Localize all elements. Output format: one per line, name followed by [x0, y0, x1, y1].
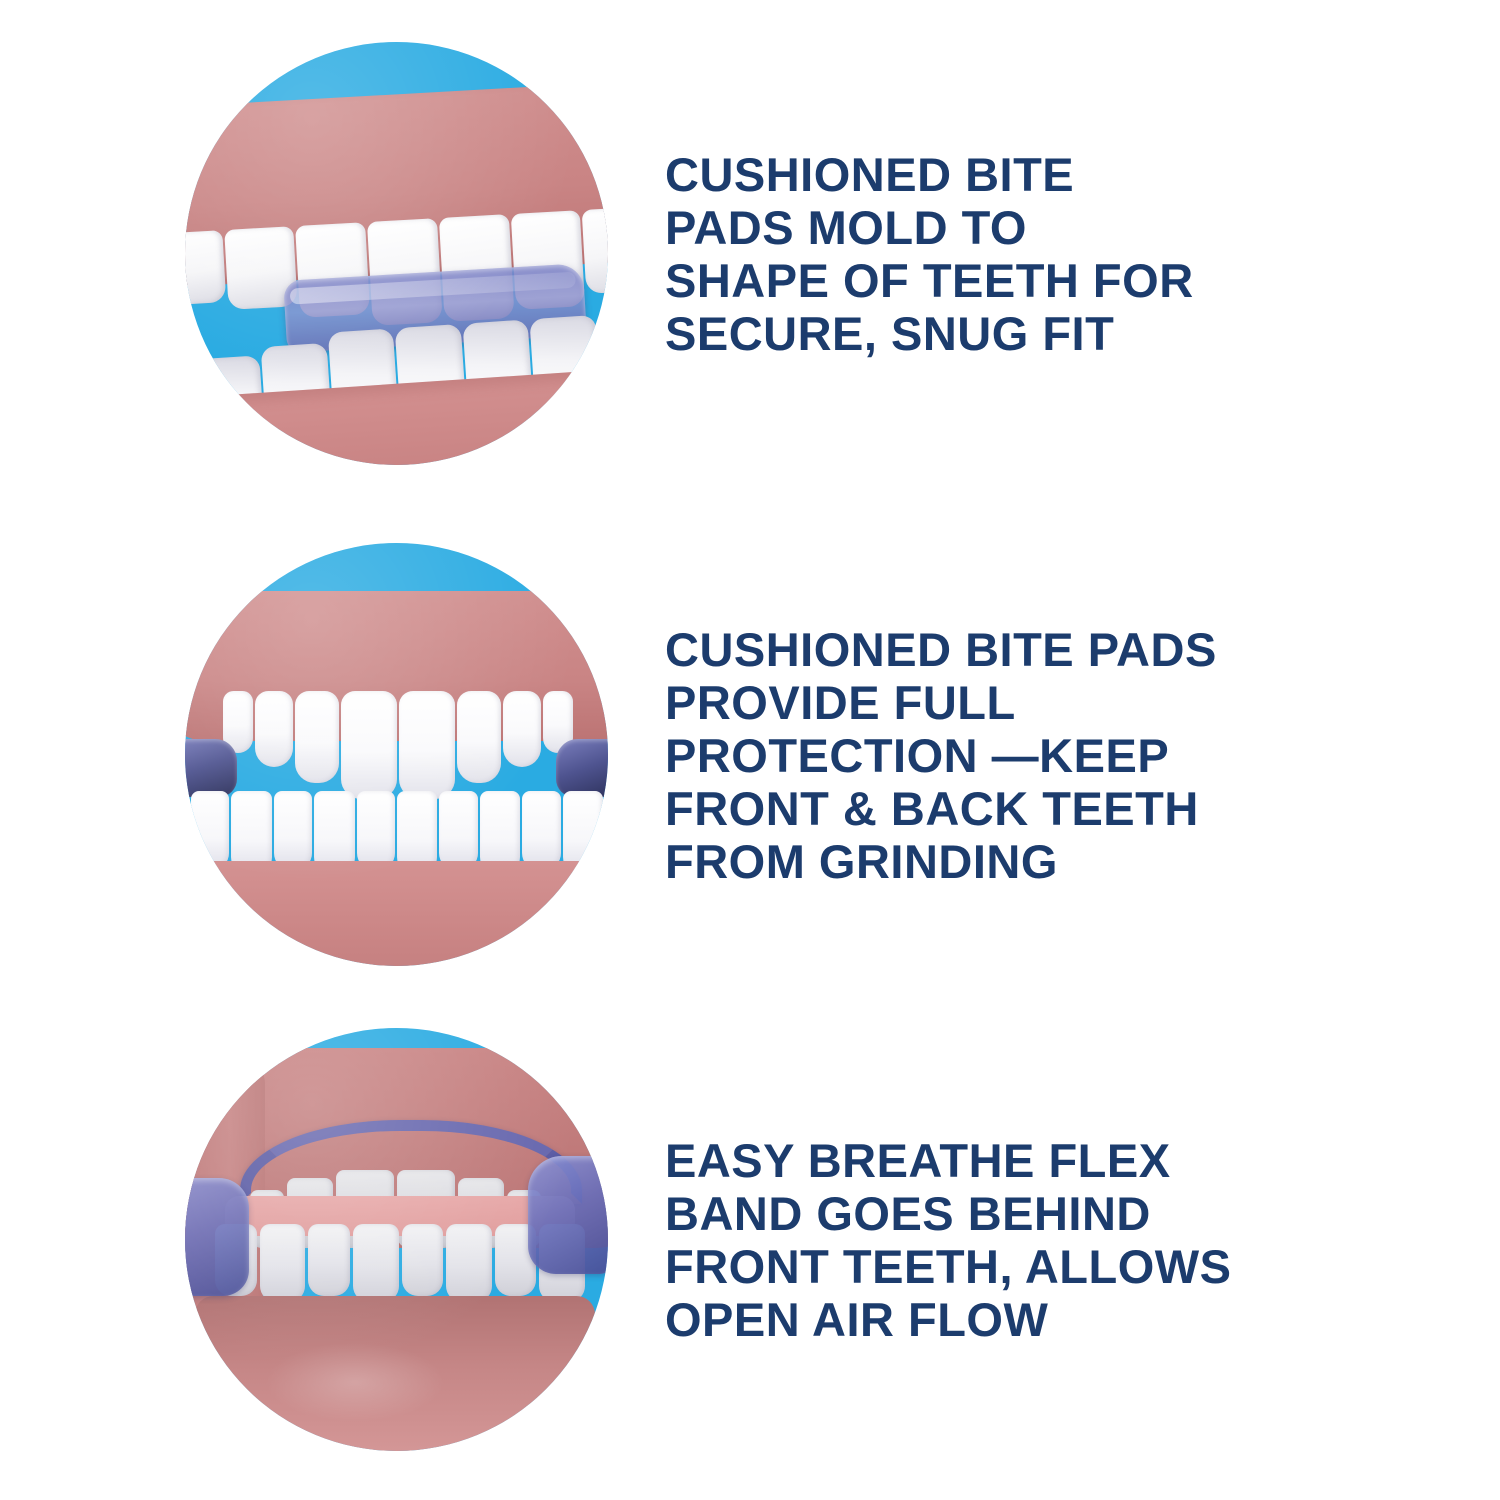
feature-text-cell: EASY BREATHE FLEX BAND GOES BEHIND FRONT… [610, 1134, 1500, 1346]
tongue [195, 1296, 595, 1451]
feature-row: CUSHIONED BITE PADS PROVIDE FULL PROTECT… [0, 543, 1500, 967]
inside-mouth-flex-band-view-icon [185, 1028, 608, 1451]
tooth [357, 791, 395, 871]
tooth [255, 691, 293, 767]
product-feature-infographic: CUSHIONED BITE PADS MOLD TO SHAPE OF TEE… [0, 0, 1500, 1500]
feature-image-cell [0, 543, 610, 967]
feature-caption: EASY BREATHE FLEX BAND GOES BEHIND FRONT… [665, 1134, 1500, 1346]
bite-pad-left [185, 1178, 249, 1296]
lower-gum [185, 861, 608, 966]
tooth [457, 691, 501, 783]
feature-image-cell [0, 42, 610, 466]
tooth [402, 1224, 444, 1296]
feature-text-cell: CUSHIONED BITE PADS PROVIDE FULL PROTECT… [610, 623, 1500, 888]
tooth [341, 691, 397, 799]
bite-pad-left [185, 739, 237, 797]
tooth [399, 691, 455, 799]
feature-caption: CUSHIONED BITE PADS PROVIDE FULL PROTECT… [665, 623, 1500, 888]
tooth [260, 1224, 306, 1302]
tooth [308, 1224, 350, 1296]
tooth [274, 791, 312, 871]
tooth [185, 230, 226, 306]
bite-pad-right [556, 739, 608, 797]
feature-caption: CUSHIONED BITE PADS MOLD TO SHAPE OF TEE… [665, 148, 1500, 360]
side-bite-view-with-mouthguard-icon [185, 42, 608, 465]
front-closed-bite-view-icon [185, 543, 608, 966]
bite-pad-right [528, 1156, 608, 1274]
tooth [191, 791, 229, 871]
feature-image-cell [0, 1028, 610, 1452]
tooth [503, 691, 541, 767]
feature-row: EASY BREATHE FLEX BAND GOES BEHIND FRONT… [0, 1028, 1500, 1452]
feature-text-cell: CUSHIONED BITE PADS MOLD TO SHAPE OF TEE… [610, 148, 1500, 360]
tooth [522, 791, 560, 871]
tooth [353, 1224, 399, 1302]
tooth [439, 791, 477, 871]
tooth [582, 206, 608, 294]
feature-row: CUSHIONED BITE PADS MOLD TO SHAPE OF TEE… [0, 42, 1500, 466]
tooth [446, 1224, 492, 1302]
tooth [295, 691, 339, 783]
